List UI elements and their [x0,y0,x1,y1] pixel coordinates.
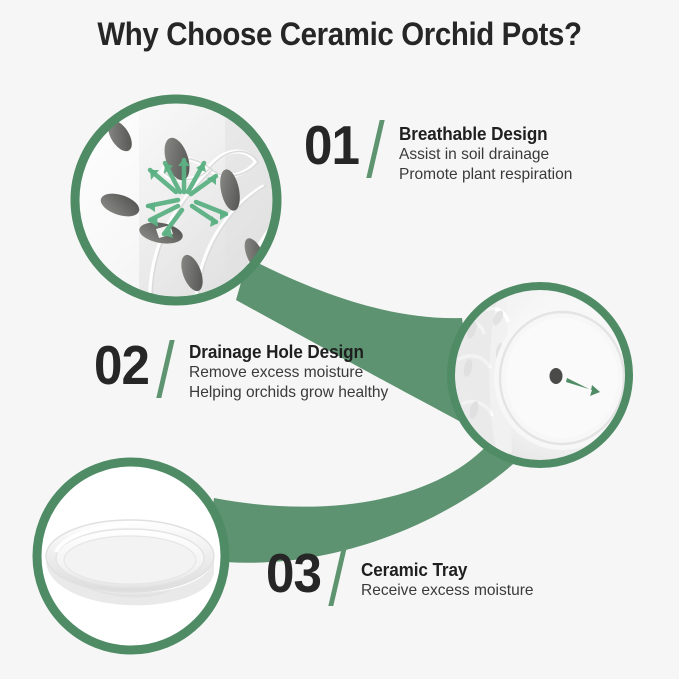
feature-headline-02: Drainage Hole Design [189,341,384,363]
feature-3-image [41,466,221,646]
feature-line-02-1: Remove excess moisture [189,363,388,383]
infographic-root: Why Choose Ceramic Orchid Pots? [0,0,679,679]
feature-copy-02: Drainage Hole Design Remove excess moist… [180,338,394,403]
feature-item-02: 02 Drainage Hole Design Remove excess mo… [94,338,395,403]
feature-item-03: 03 Ceramic Tray Receive excess moisture [266,546,539,608]
drainage-hole [550,368,563,384]
feature-headline-03: Ceramic Tray [361,559,530,581]
slash-divider-icon [154,338,180,400]
slash-divider-icon [364,118,390,180]
feature-line-01-2: Promote plant respiration [399,165,572,185]
feature-line-03-1: Receive excess moisture [361,581,534,601]
ribbon-circle2-to-circle3 [205,440,520,563]
feature-number-01: 01 [304,118,359,172]
feature-headline-01: Breathable Design [399,123,569,145]
feature-line-02-2: Helping orchids grow healthy [189,383,388,403]
feature-copy-03: Ceramic Tray Receive excess moisture [352,546,539,601]
feature-number-03: 03 [266,546,321,600]
feature-copy-01: Breathable Design Assist in soil drainag… [390,118,578,185]
feature-item-01: 01 Breathable Design Assist in soil drai… [304,118,578,185]
slash-divider-icon [326,546,352,608]
feature-line-01-1: Assist in soil drainage [399,145,572,165]
feature-number-02: 02 [94,338,149,392]
